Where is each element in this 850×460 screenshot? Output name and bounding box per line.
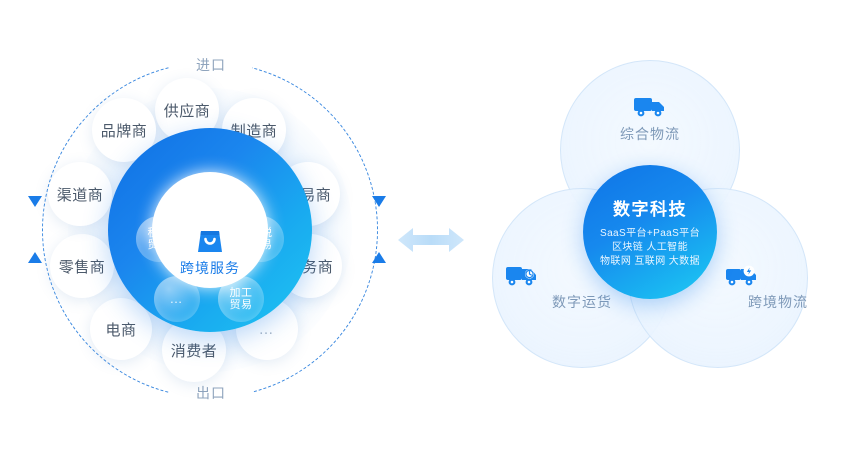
venn-label-digital-freight: 数字运货 [522,292,642,312]
trade-bubble-line2: 贸易 [148,239,171,251]
tech-core-line-1: SaaS平台+PaaS平台 [600,227,700,241]
tech-core-line-2: 区块链 人工智能 [612,241,688,255]
node-label: 品牌商 [101,120,148,141]
tech-core-line-3: 物联网 互联网 大数据 [600,255,700,269]
node-label: 零售商 [59,256,106,277]
node-label: 供应商 [164,100,211,121]
trade-bubble-more[interactable]: … [154,276,200,322]
truck-clock-icon [505,262,539,288]
double-arrow-icon [396,222,466,258]
ring-arrow-left-bottom-icon [28,252,42,263]
trade-bubble-line1: 一般 [199,185,222,197]
trade-bubble-general-trade[interactable]: 一般 贸易 [187,174,233,220]
import-label: 进口 [166,55,256,75]
cross-border-service-diagram: 进口 出口 供应商 制造商 贸易商 服务商 … 消费者 电商 零售商 [20,30,400,430]
digital-technology-diagram: 综合物流 数字运货 [470,60,830,400]
node-retailer[interactable]: 零售商 [50,234,114,298]
venn-label-integrated-logistics: 综合物流 [590,124,710,144]
trade-bubble-line1: 租赁 [148,227,171,239]
trade-bubble-line1: 报税 [250,227,273,239]
trade-bubble-line1: 加工 [230,287,253,299]
ring-arrow-right-bottom-icon [372,252,386,263]
trade-bubble-leasing-trade[interactable]: 租赁 贸易 [136,216,182,262]
tech-core-title: 数字科技 [613,195,687,220]
trade-bubble-line2: 贸易 [230,299,253,311]
shopping-bag-icon [192,220,228,256]
trade-bubble-line2: 贸易 [250,239,273,251]
node-label: 电商 [105,319,136,340]
ring-arrow-right-top-icon [372,196,386,207]
truck-icon [633,93,667,119]
trade-bubble-line2: 贸易 [199,197,222,209]
digital-technology-core: 数字科技 SaaS平台+PaaS平台 区块链 人工智能 物联网 互联网 大数据 [583,165,717,299]
export-label: 出口 [166,383,256,403]
truck-bolt-icon [725,262,759,288]
ring-arrow-left-top-icon [28,196,42,207]
diagram-canvas: 进口 出口 供应商 制造商 贸易商 服务商 … 消费者 电商 零售商 [0,0,850,460]
venn-label-cross-border-logistics: 跨境物流 [718,292,838,312]
node-label: … [259,321,276,338]
trade-bubble-line1: … [170,293,185,305]
core-caption: 跨境服务 [150,258,270,278]
node-label: 渠道商 [57,184,104,205]
trade-bubble-bonded-trade[interactable]: 报税 贸易 [238,216,284,262]
trade-bubble-processing-trade[interactable]: 加工 贸易 [218,276,264,322]
node-channel[interactable]: 渠道商 [48,162,112,226]
node-label: 消费者 [171,340,218,361]
